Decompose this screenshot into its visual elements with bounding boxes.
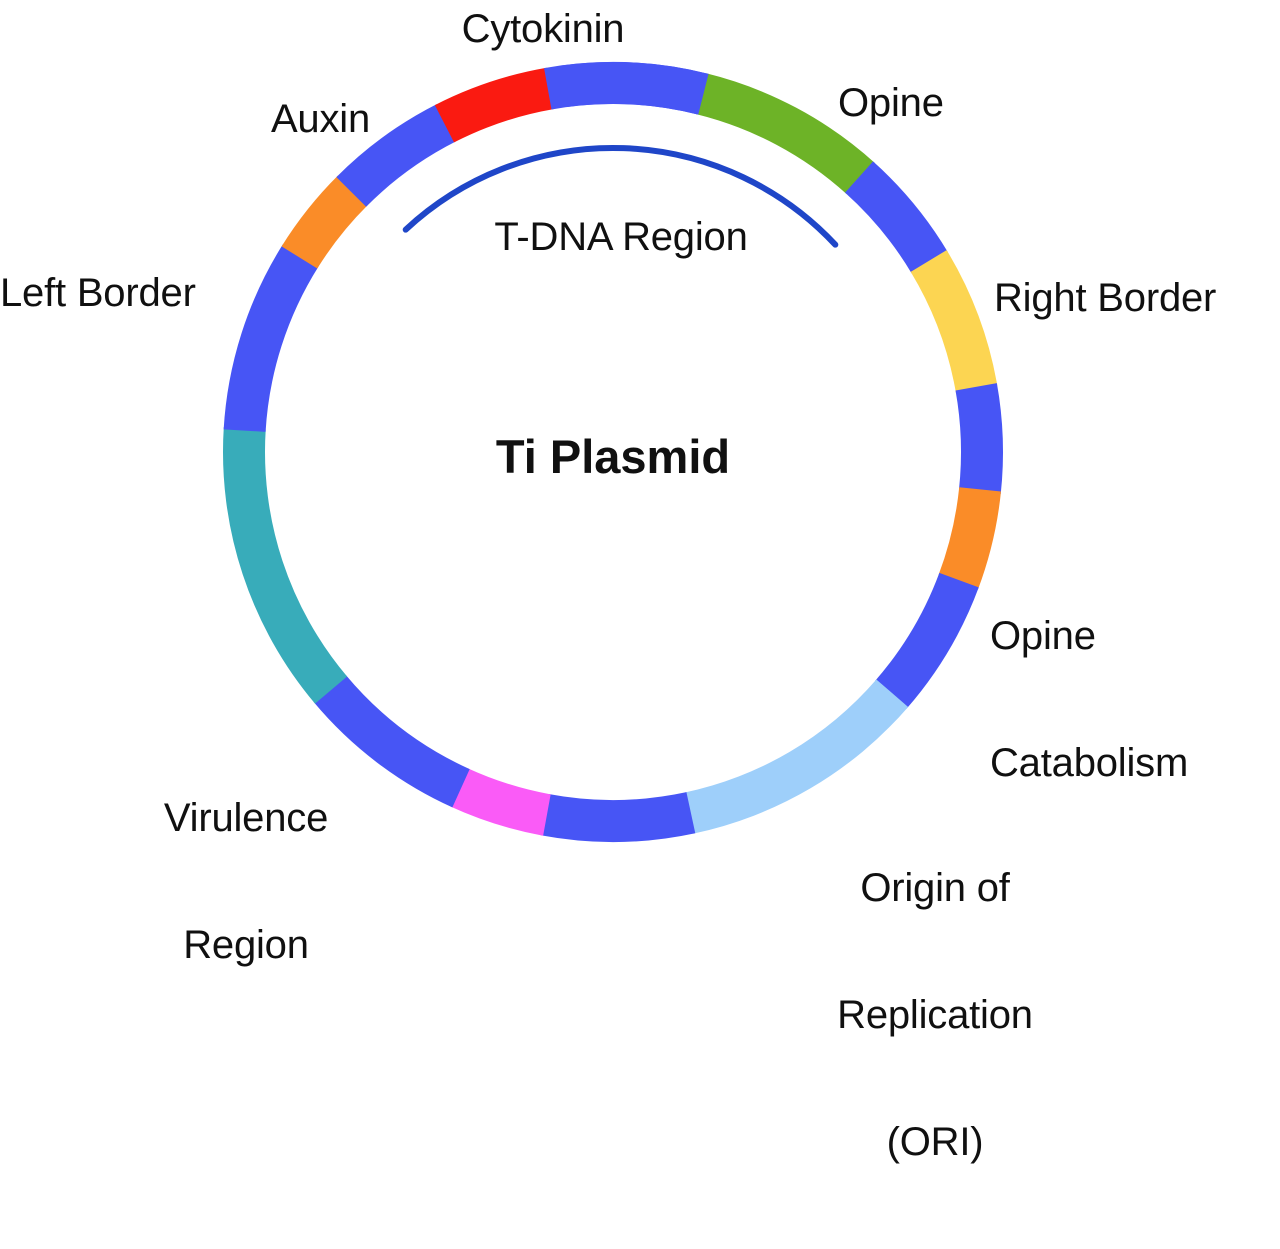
label-cytokinin: Cytokinin: [0, 8, 1280, 50]
label-auxin: Auxin: [100, 98, 370, 140]
label-origin-of-replication: Origin of Replication (ORI): [800, 782, 1070, 1248]
label-right-border: Right Border: [994, 277, 1280, 319]
ring-segment-backbone: [875, 573, 979, 709]
label-opine: Opine: [838, 82, 1098, 124]
label-left-border: Left Border: [0, 272, 248, 314]
label-virulence-region: Virulence Region: [96, 712, 396, 1051]
label-cytokinin-text: Cytokinin: [462, 7, 625, 51]
ring-segment-backbone: [956, 383, 1003, 494]
label-ori-line2: Replication: [800, 994, 1070, 1036]
ring-segment-opine: [911, 250, 998, 393]
label-virulence-line2: Region: [96, 924, 396, 966]
label-ori-line3: (ORI): [800, 1121, 1070, 1163]
label-tdna-region: T-DNA Region: [381, 216, 861, 258]
ring-segment-auxin: [435, 68, 554, 143]
plasmid-center-title: Ti Plasmid: [413, 432, 813, 482]
label-virulence-line1: Virulence: [96, 797, 396, 839]
ring-segment-backbone: [541, 792, 696, 842]
ring-segment-virulence-region: [223, 427, 347, 704]
label-opine-catabolism-line1: Opine: [990, 615, 1240, 657]
ring-segment-backbone: [544, 62, 708, 115]
plasmid-diagram: Cytokinin Auxin Opine Left Border Right …: [0, 0, 1280, 968]
label-opine-catabolism-line2: Catabolism: [990, 742, 1240, 784]
label-ori-line1: Origin of: [800, 867, 1070, 909]
